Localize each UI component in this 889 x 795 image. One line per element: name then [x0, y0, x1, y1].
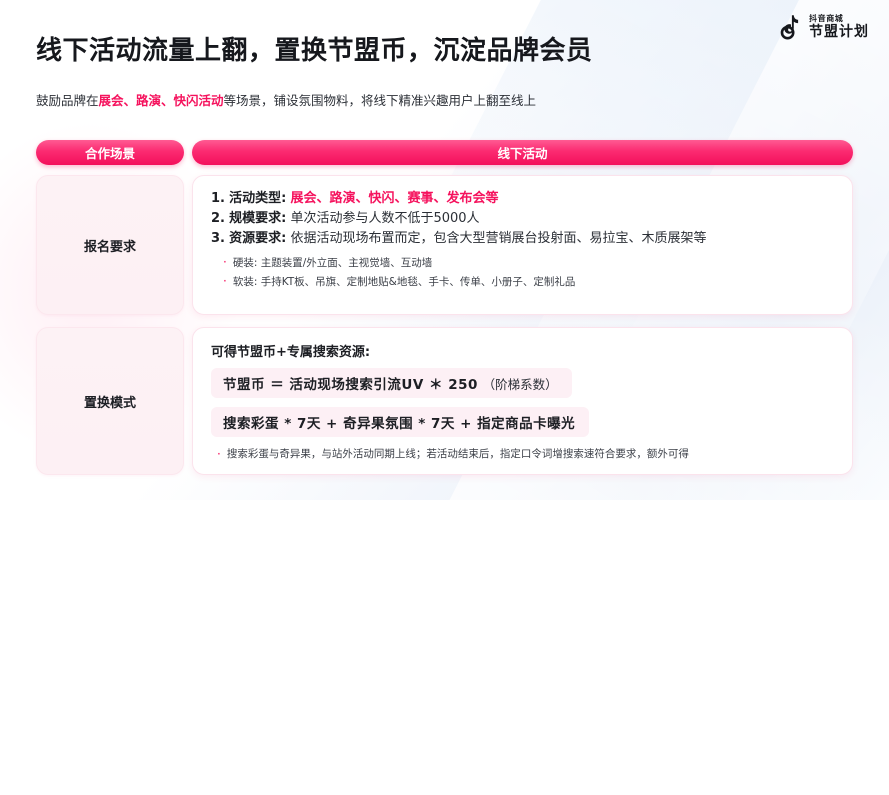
item-value: 单次活动参与人数不低于5000人 — [290, 211, 479, 226]
logo-text-block: 抖音商城 节盟计划 — [809, 15, 869, 39]
note-text: 搜索彩蛋与奇异果，与站外活动同期上线；若活动结束后，指定口令词增搜索速符合要求，… — [227, 446, 689, 463]
section-label-exchange-mode: 置换模式 — [36, 327, 184, 475]
item-number: 1. — [211, 191, 225, 206]
subtitle-pre: 鼓励品牌在 — [36, 93, 99, 108]
bullet-dot-icon: · — [223, 273, 227, 290]
list-item: · 软装: 手持KT板、吊旗、定制地贴&地毯、手卡、传单、小册子、定制礼品 — [211, 273, 834, 291]
bullet-dot-icon: · — [217, 446, 221, 463]
list-item: 1. 活动类型: 展会、路演、快闪、赛事、发布会等 — [211, 189, 834, 209]
subtitle-highlight: 展会、路演、快闪活动 — [99, 93, 224, 108]
item-number: 3. — [211, 231, 225, 246]
item-key: 活动类型: — [229, 191, 286, 206]
tag-offline-activity[interactable]: 线下活动 — [192, 140, 853, 165]
sub-item-text: 软装: 手持KT板、吊旗、定制地贴&地毯、手卡、传单、小册子、定制礼品 — [233, 273, 576, 291]
list-item: · 硬装: 主题装置/外立面、主视觉墙、互动墙 — [211, 254, 834, 272]
page-subtitle: 鼓励品牌在展会、路演、快闪活动等场景，铺设氛围物料，将线下精准兴趣用户上翻至线上 — [36, 90, 536, 109]
slide-header: 线下活动流量上翻，置换节盟币，沉淀品牌会员 鼓励品牌在展会、路演、快闪活动等场景… — [0, 0, 889, 120]
content-area: 报名要求 1. 活动类型: 展会、路演、快闪、赛事、发布会等 2. 规模要求: … — [36, 175, 853, 475]
subtitle-post: 等场景，铺设氛围物料，将线下精准兴趣用户上翻至线上 — [224, 93, 537, 108]
formula-bold-text: 搜索彩蛋 * 7天 + 奇异果氛围 * 7天 + 指定商品卡曝光 — [223, 416, 575, 432]
item-number: 2. — [211, 211, 225, 226]
item-key: 资源要求: — [229, 231, 286, 246]
tag-cooperation-scene[interactable]: 合作场景 — [36, 140, 184, 165]
formula-search-resources: 搜索彩蛋 * 7天 + 奇异果氛围 * 7天 + 指定商品卡曝光 — [211, 407, 589, 437]
sub-bullet-list: · 硬装: 主题装置/外立面、主视觉墙、互动墙 · 软装: 手持KT板、吊旗、定… — [211, 254, 834, 291]
formula-bold-text: 节盟币 ＝ 活动现场搜索引流UV ＊ 250 — [223, 377, 478, 393]
list-item: 3. 资源要求: 依据活动现场布置而定，包含大型营销展台投射面、易拉宝、木质展架… — [211, 229, 834, 249]
formula-coin-calculation: 节盟币 ＝ 活动现场搜索引流UV ＊ 250 （阶梯系数） — [211, 368, 572, 398]
exchange-heading: 可得节盟币+专属搜索资源: — [211, 341, 834, 360]
list-item: 2. 规模要求: 单次活动参与人数不低于5000人 — [211, 209, 834, 229]
logo-sub-text: 抖音商城 — [809, 15, 869, 23]
card-registration-requirements: 1. 活动类型: 展会、路演、快闪、赛事、发布会等 2. 规模要求: 单次活动参… — [192, 175, 853, 315]
exchange-note: · 搜索彩蛋与奇异果，与站外活动同期上线；若活动结束后，指定口令词增搜索速符合要… — [211, 446, 834, 463]
logo-main-text: 节盟计划 — [809, 25, 869, 39]
page-title: 线下活动流量上翻，置换节盟币，沉淀品牌会员 — [36, 30, 593, 67]
tag-row: 合作场景 线下活动 — [36, 140, 853, 165]
sub-item-text: 硬装: 主题装置/外立面、主视觉墙、互动墙 — [233, 254, 432, 272]
section-label-registration: 报名要求 — [36, 175, 184, 315]
section-exchange-mode: 置换模式 可得节盟币+专属搜索资源: 节盟币 ＝ 活动现场搜索引流UV ＊ 25… — [36, 327, 853, 475]
card-exchange-mode: 可得节盟币+专属搜索资源: 节盟币 ＝ 活动现场搜索引流UV ＊ 250 （阶梯… — [192, 327, 853, 475]
formula-soft-text: （阶梯系数） — [483, 377, 558, 392]
item-key: 规模要求: — [229, 211, 286, 226]
bullet-dot-icon: · — [223, 254, 227, 271]
brand-logo: 抖音商城 节盟计划 — [779, 14, 869, 40]
item-value: 依据活动现场布置而定，包含大型营销展台投射面、易拉宝、木质展架等 — [290, 231, 706, 246]
section-registration: 报名要求 1. 活动类型: 展会、路演、快闪、赛事、发布会等 2. 规模要求: … — [36, 175, 853, 315]
tiktok-note-icon — [779, 14, 803, 40]
item-value: 展会、路演、快闪、赛事、发布会等 — [290, 191, 498, 206]
